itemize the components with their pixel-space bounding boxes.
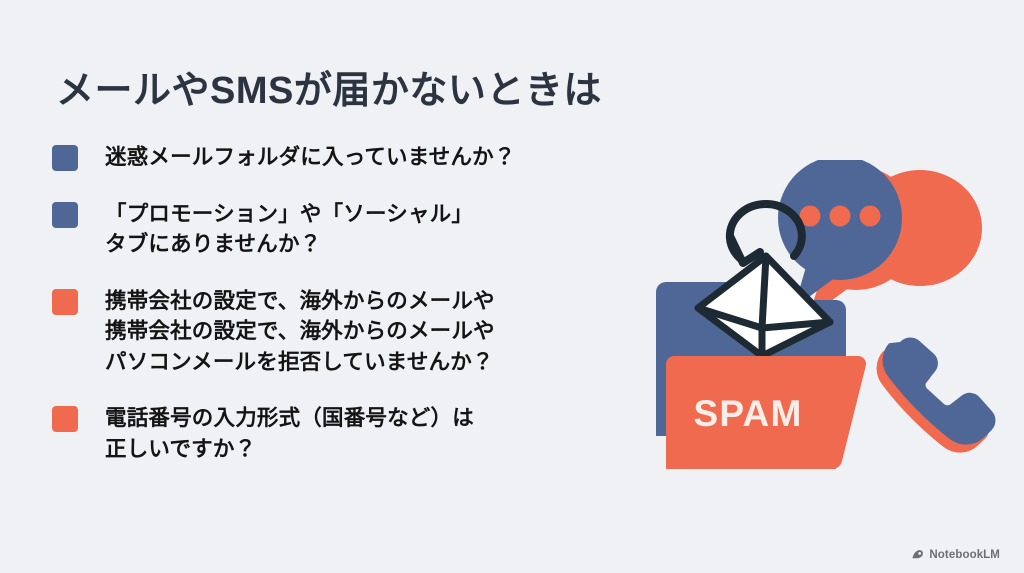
list-item-line: 「プロモーション」や「ソーシャル」 [105, 199, 473, 230]
watermark-label: NotebookLM [929, 549, 1000, 561]
list-item-line: 正しいですか？ [105, 434, 474, 465]
list-item-text: 携帯会社の設定で、海外からのメールや 携帯会社の設定で、海外からのメールや パソ… [105, 286, 495, 378]
list-item-line: 迷惑メールフォルダに入っていませんか？ [105, 142, 516, 173]
bullet-square-icon [52, 145, 78, 171]
list-item-line: 携帯会社の設定で、海外からのメールや [105, 286, 495, 317]
bubble-dot-icon [860, 206, 881, 227]
folder-label: SPAM [694, 393, 803, 434]
bubble-dot-icon [830, 206, 851, 227]
list-item: 「プロモーション」や「ソーシャル」 タブにありませんか？ [52, 199, 632, 260]
list-item-text: 「プロモーション」や「ソーシャル」 タブにありませんか？ [105, 199, 473, 260]
notebooklm-logo-icon [911, 548, 924, 561]
list-item-line: タブにありませんか？ [105, 229, 473, 260]
bullet-square-icon [52, 202, 78, 228]
list-item-line: 携帯会社の設定で、海外からのメールや [105, 316, 495, 347]
list-item-text: 迷惑メールフォルダに入っていませんか？ [105, 142, 516, 173]
spam-folder-illustration: SPAM [648, 160, 1008, 470]
slide-canvas: メールやSMSが届かないときは 迷惑メールフォルダに入っていませんか？ 「プロモ… [0, 0, 1024, 573]
list-item: 迷惑メールフォルダに入っていませんか？ [52, 142, 632, 173]
page-title: メールやSMSが届かないときは [56, 69, 602, 115]
bullet-list: 迷惑メールフォルダに入っていませんか？ 「プロモーション」や「ソーシャル」 タブ… [52, 142, 632, 490]
list-item-line: 電話番号の入力形式（国番号など）は [105, 403, 474, 434]
watermark: NotebookLM [911, 548, 1000, 561]
bullet-square-icon [52, 289, 78, 315]
list-item: 携帯会社の設定で、海外からのメールや 携帯会社の設定で、海外からのメールや パソ… [52, 286, 632, 378]
bullet-square-icon [52, 406, 78, 432]
list-item-line: パソコンメールを拒否していませんか？ [105, 347, 495, 378]
list-item-text: 電話番号の入力形式（国番号など）は 正しいですか？ [105, 403, 474, 464]
list-item: 電話番号の入力形式（国番号など）は 正しいですか？ [52, 403, 632, 464]
